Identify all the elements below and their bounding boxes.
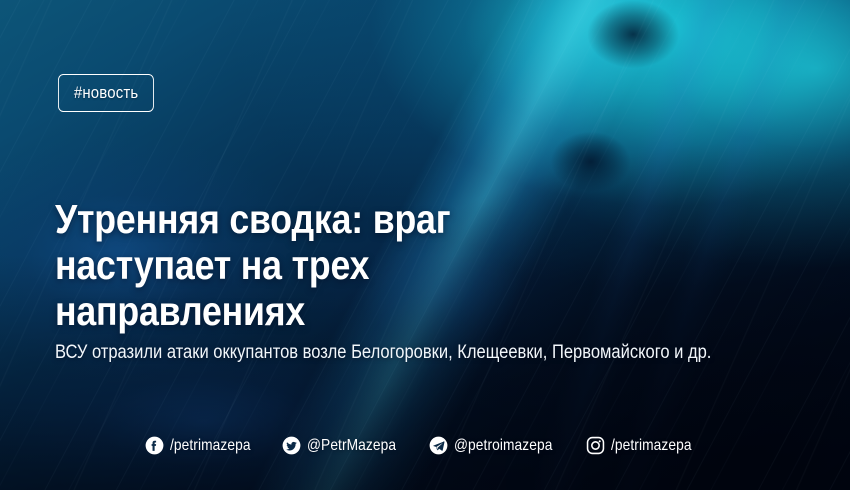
facebook-icon bbox=[145, 436, 164, 455]
social-links-bar: /petrimazepa @PetrMazepa @petroimazepa bbox=[0, 436, 850, 455]
twitter-icon bbox=[282, 436, 301, 455]
subtitle-text: ВСУ отразили атаки оккупантов возле Бело… bbox=[55, 341, 734, 365]
telegram-icon bbox=[429, 436, 448, 455]
card-content: #новость Утренняя сводка: враг наступает… bbox=[0, 0, 850, 490]
social-link-twitter[interactable]: @PetrMazepa bbox=[282, 436, 411, 455]
instagram-icon bbox=[586, 436, 605, 455]
page-title: Утренняя сводка: враг наступает на трех … bbox=[55, 196, 612, 334]
news-card: #новость Утренняя сводка: враг наступает… bbox=[0, 0, 850, 490]
social-handle-facebook: /petrimazepa bbox=[170, 437, 251, 455]
social-link-telegram[interactable]: @petroimazepa bbox=[429, 436, 569, 455]
social-link-instagram[interactable]: /petrimazepa bbox=[586, 436, 705, 455]
social-handle-instagram: /petrimazepa bbox=[611, 437, 692, 455]
category-badge[interactable]: #новость bbox=[58, 74, 154, 112]
social-handle-twitter: @PetrMazepa bbox=[307, 437, 396, 455]
social-link-facebook[interactable]: /petrimazepa bbox=[145, 436, 264, 455]
social-handle-telegram: @petroimazepa bbox=[454, 437, 552, 455]
